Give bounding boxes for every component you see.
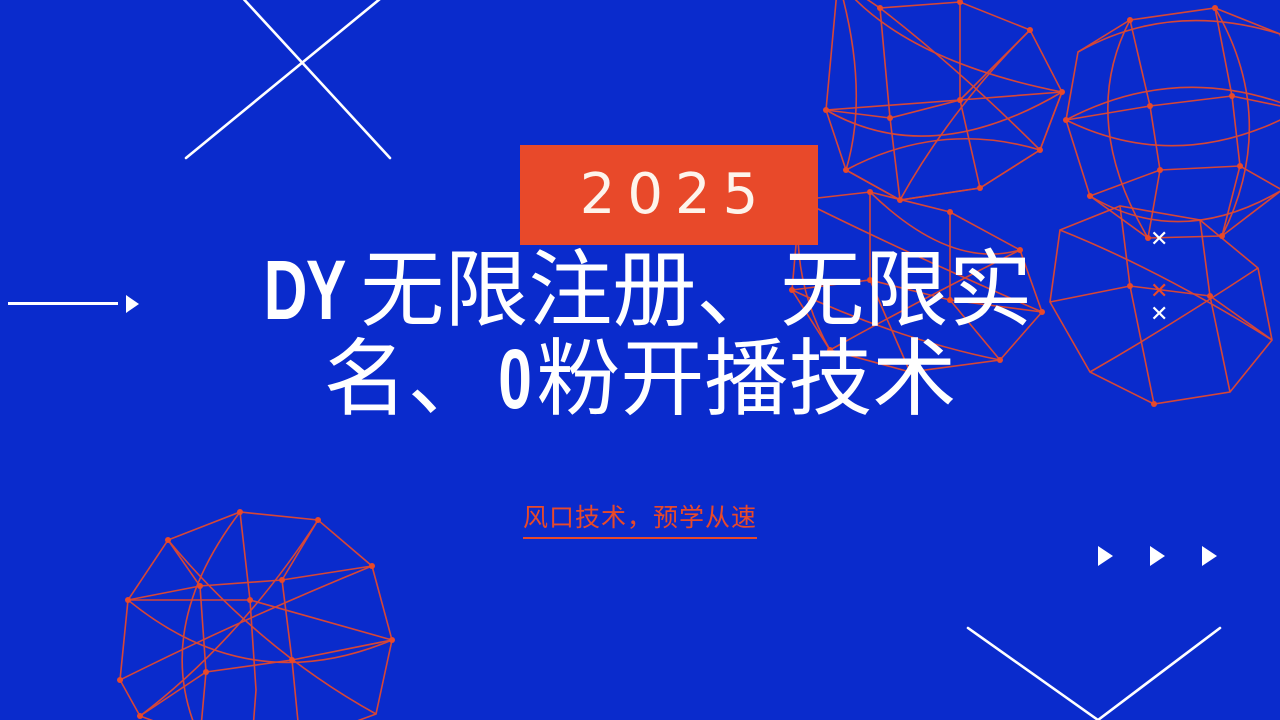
decor-chevron-left-stroke — [968, 628, 1098, 720]
close-x-icon: ✕ — [1150, 229, 1168, 251]
poster-canvas: 2025 DY无限注册、无限实 名、0粉开播技术 风口技术，预学从速 ✕ ✕ ✕ — [0, 0, 1280, 720]
close-x-icon: ✕ — [1150, 281, 1168, 303]
play-triangle-icon — [1150, 546, 1165, 566]
wireframe-blob-top-right — [826, 0, 1062, 200]
arrow-row — [1098, 546, 1217, 566]
year-badge-label: 2025 — [568, 167, 771, 223]
year-badge: 2025 — [520, 145, 818, 245]
headline-line-2: 名、0粉开播技术 — [0, 335, 1280, 424]
decor-x-stroke-a — [239, 0, 390, 158]
decor-x-stroke-b — [186, 0, 386, 158]
subtitle: 风口技术，预学从速 — [0, 498, 1280, 539]
subtitle-label: 风口技术，预学从速 — [523, 498, 757, 539]
decor-chevron-right-stroke — [1098, 628, 1220, 720]
play-triangle-icon — [1202, 546, 1217, 566]
wireframe-sphere-right — [1066, 8, 1280, 238]
headline-line1-cn: 无限注册、无限实 — [360, 241, 1032, 339]
play-triangle-icon — [1098, 546, 1113, 566]
headline-line2-latin: 0 — [498, 335, 530, 424]
headline-line2-cn-prefix: 名、 — [324, 330, 492, 428]
page-title: DY无限注册、无限实 名、0粉开播技术 — [0, 246, 1280, 424]
headline-line2-cn-suffix: 粉开播技术 — [536, 330, 956, 428]
wireframe-sphere-bottom-left — [120, 512, 392, 720]
close-x-icon: ✕ — [1150, 304, 1168, 326]
headline-line-1: DY无限注册、无限实 — [0, 246, 1280, 335]
headline-line1-latin: DY — [263, 246, 344, 335]
